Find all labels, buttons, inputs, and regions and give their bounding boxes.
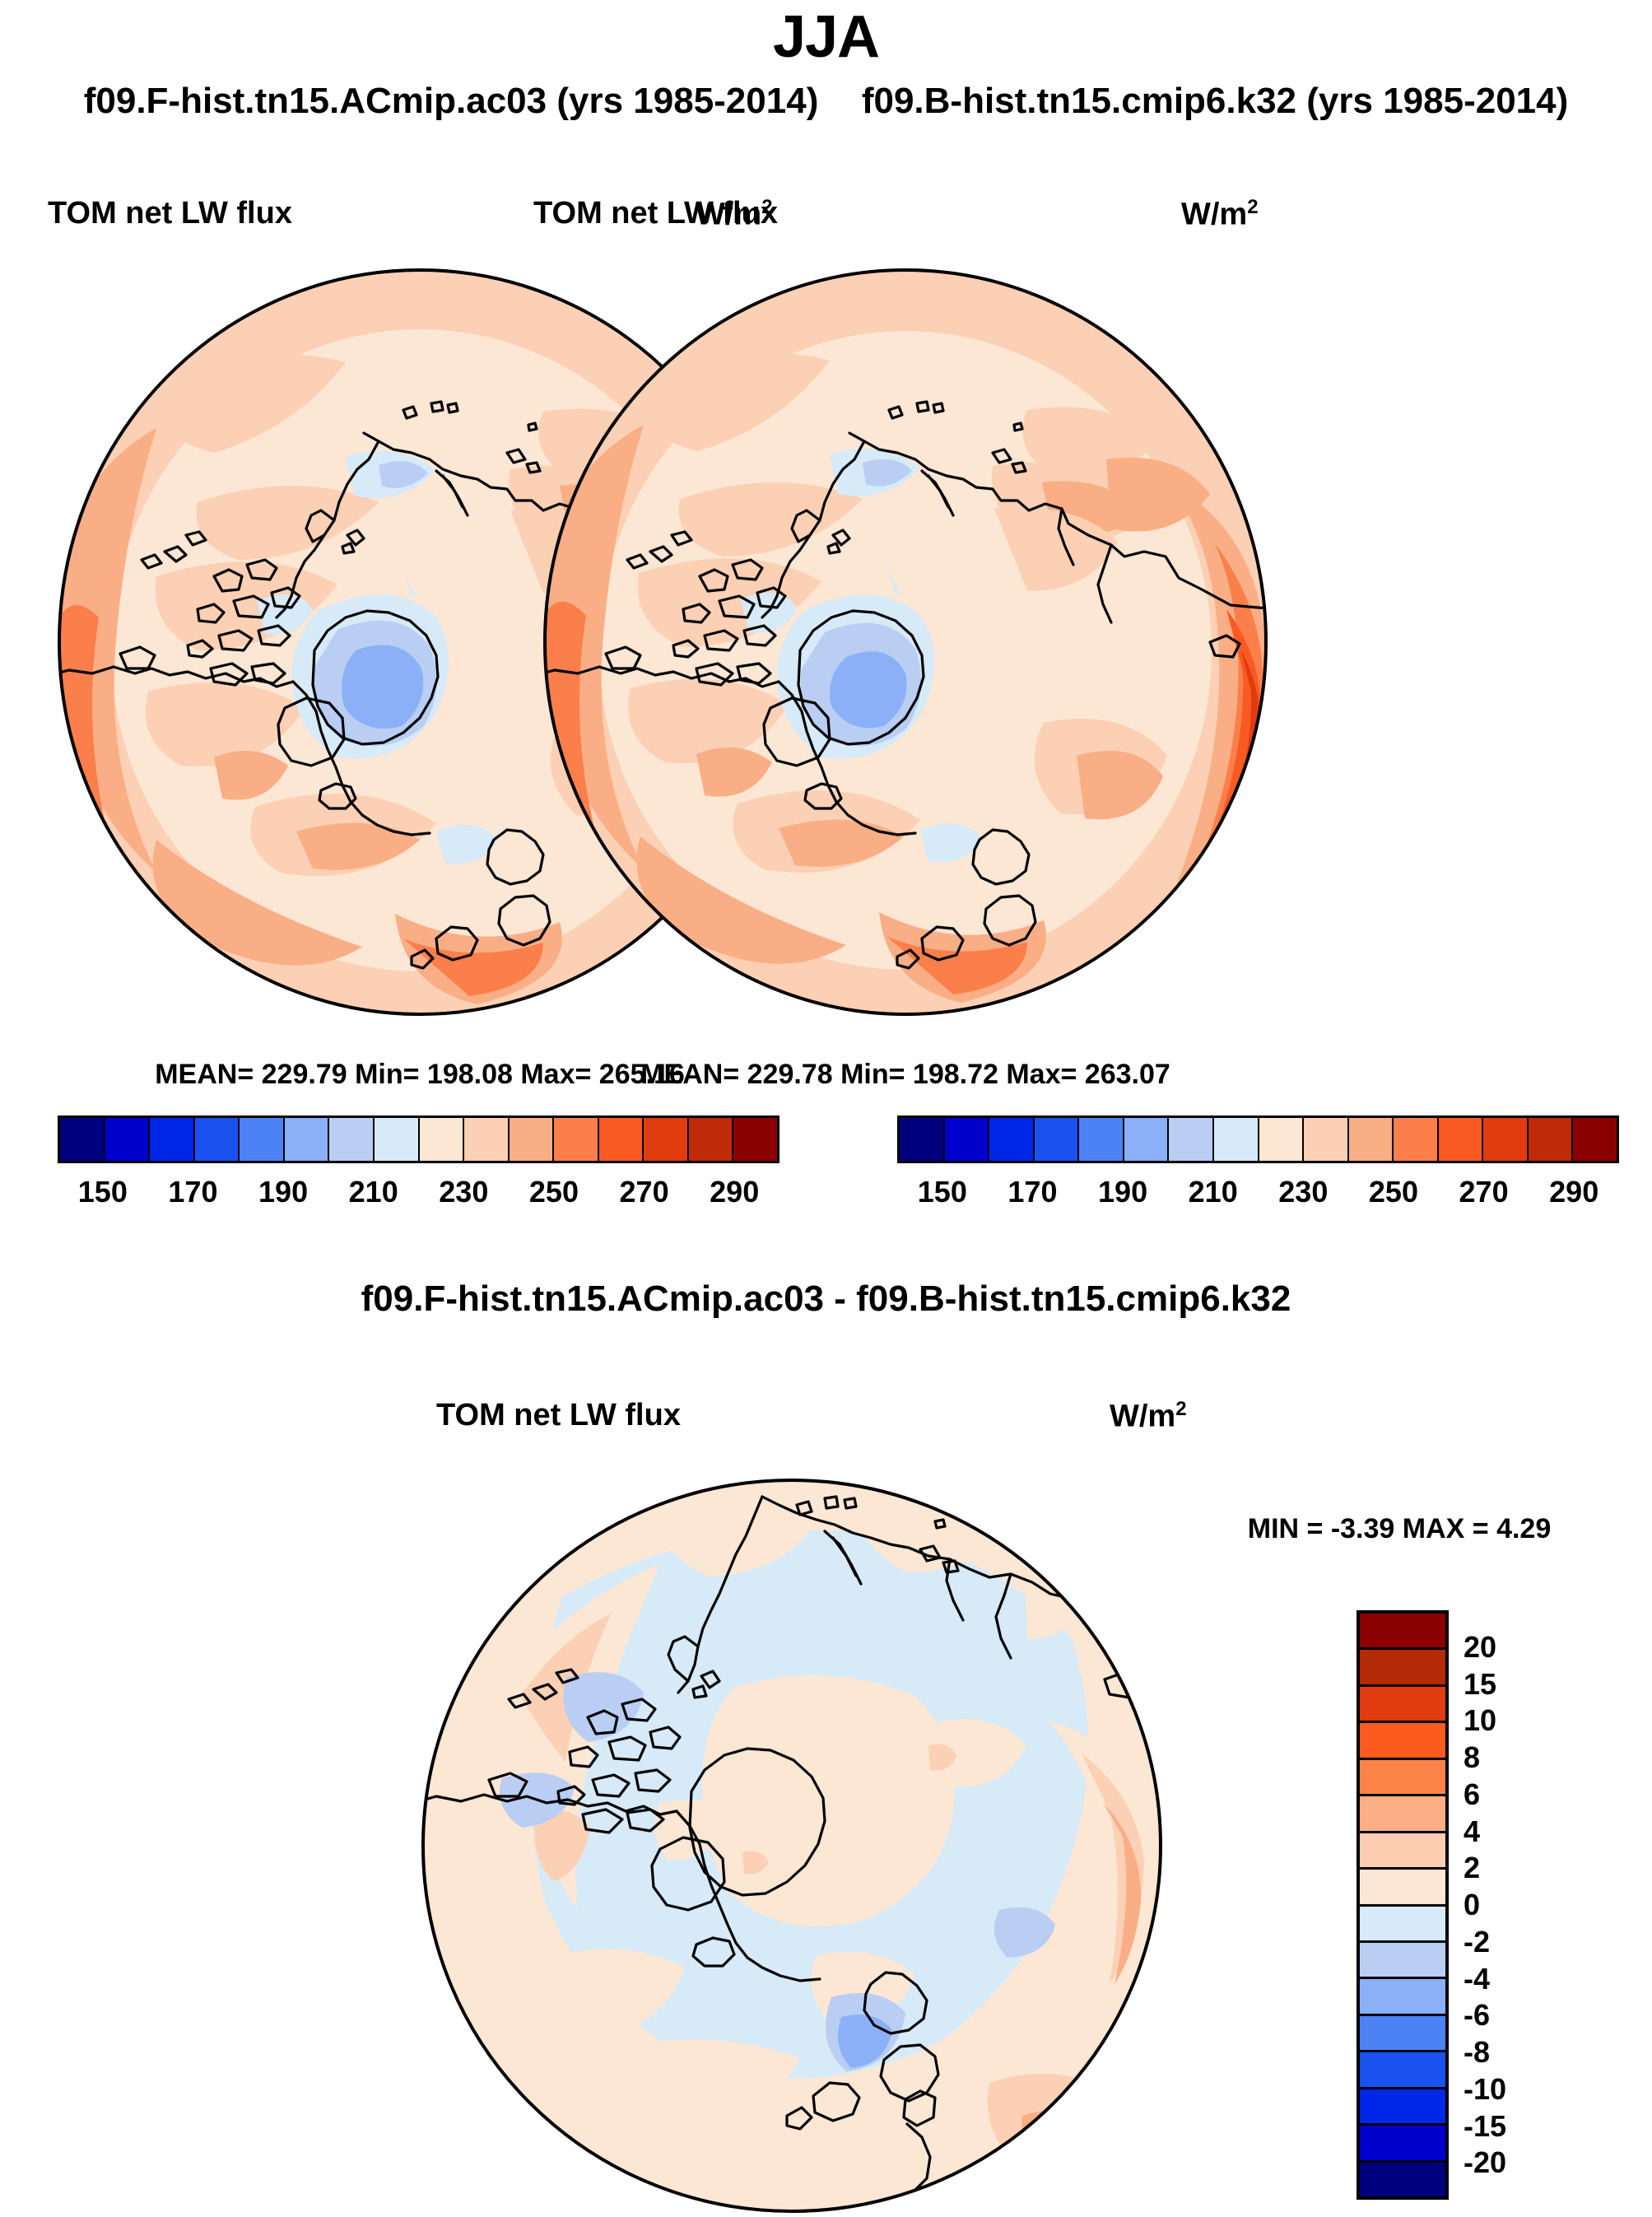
colorbar-tick-label: 230 xyxy=(439,1175,488,1209)
colorbar-swatch xyxy=(1360,1760,1445,1796)
colorbar-tick-label: 4 xyxy=(1464,1814,1480,1849)
difference-panel-title: f09.F-hist.tn15.ACmip.ac03 - f09.B-hist.… xyxy=(0,1279,1652,1320)
colorbar-swatch xyxy=(1259,1118,1305,1161)
colorbar-swatch xyxy=(1360,1833,1445,1870)
colorbar-swatch xyxy=(689,1118,734,1161)
colorbar-tick-label: -4 xyxy=(1464,1962,1490,1996)
panel-difference-variable-label: TOM net LW flux xyxy=(436,1398,681,1433)
colorbar-swatch xyxy=(1214,1118,1259,1161)
colorbar-swatch xyxy=(1439,1118,1484,1161)
colorbar-swatch xyxy=(510,1118,555,1161)
colorbar-swatch xyxy=(1360,1650,1445,1686)
colorbar-tick-label: 10 xyxy=(1464,1703,1496,1738)
colorbar-swatch xyxy=(60,1118,105,1161)
colorbar-tick-label: 150 xyxy=(78,1175,128,1209)
colorbar-swatch xyxy=(945,1118,990,1161)
colorbar-swatch xyxy=(1360,1979,1445,2015)
colorbar-swatch xyxy=(1079,1118,1124,1161)
colorbar-swatch xyxy=(1360,2163,1445,2196)
panel-difference-units-text: W/m xyxy=(1110,1400,1175,1434)
colorbar-tick-label: 290 xyxy=(1549,1175,1598,1209)
colorbar-swatch xyxy=(329,1118,375,1161)
colorbar-left: 150170190210230250270290 xyxy=(58,1115,779,1221)
colorbar-swatch xyxy=(1394,1118,1439,1161)
colorbar-swatch xyxy=(1360,1870,1445,1906)
colorbar-left-swatches xyxy=(58,1115,779,1163)
case-name-row: f09.F-hist.tn15.ACmip.ac03 (yrs 1985-201… xyxy=(0,81,1652,122)
colorbar-swatch xyxy=(1360,1943,1445,1979)
colorbar-tick-label: 8 xyxy=(1464,1740,1480,1775)
colorbar-swatch xyxy=(1124,1118,1170,1161)
panel-difference-units: W/m2 xyxy=(1110,1398,1187,1435)
figure-season-title: JJA xyxy=(0,3,1652,71)
colorbar-swatch xyxy=(1169,1118,1214,1161)
colorbar-swatch xyxy=(554,1118,599,1161)
colorbar-swatch xyxy=(1483,1118,1529,1161)
colorbar-swatch xyxy=(105,1118,151,1161)
colorbar-right-ticklabels: 150170190210230250270290 xyxy=(897,1175,1619,1221)
colorbar-swatch xyxy=(1573,1118,1617,1161)
colorbar-swatch xyxy=(1304,1118,1349,1161)
colorbar-difference-swatches xyxy=(1357,1610,1449,2200)
colorbar-swatch xyxy=(1360,1907,1445,1943)
colorbar-tick-label: 270 xyxy=(1459,1175,1509,1209)
colorbar-tick-label: -6 xyxy=(1464,1998,1490,2033)
panel-right-units: W/m2 xyxy=(1181,196,1259,233)
colorbar-swatch xyxy=(733,1118,777,1161)
map-difference-panel xyxy=(413,1474,1170,2215)
colorbar-swatch xyxy=(1360,2126,1445,2162)
colorbar-right-swatches xyxy=(897,1115,1619,1163)
case-name-left: f09.F-hist.tn15.ACmip.ac03 (yrs 1985-201… xyxy=(84,81,819,122)
map-difference-field xyxy=(413,1474,1170,2215)
colorbar-tick-label: 210 xyxy=(1189,1175,1238,1209)
colorbar-tick-label: -2 xyxy=(1464,1925,1490,1959)
colorbar-tick-label: 150 xyxy=(918,1175,967,1209)
case-name-right: f09.B-hist.tn15.cmip6.k32 (yrs 1985-2014… xyxy=(862,81,1568,122)
colorbar-tick-label: 250 xyxy=(1369,1175,1418,1209)
colorbar-tick-label: 6 xyxy=(1464,1777,1480,1812)
colorbar-swatch xyxy=(240,1118,285,1161)
colorbar-tick-label: -10 xyxy=(1464,2072,1506,2107)
colorbar-swatch xyxy=(464,1118,510,1161)
panel-right-variable-label: TOM net LW flux xyxy=(533,196,778,231)
colorbar-tick-label: 15 xyxy=(1464,1667,1496,1702)
panel-right-stats: MEAN= 229.78 Min= 198.72 Max= 263.07 xyxy=(535,1059,1276,1091)
colorbar-swatch xyxy=(375,1118,420,1161)
colorbar-swatch xyxy=(1360,2016,1445,2052)
colorbar-swatch xyxy=(989,1118,1035,1161)
colorbar-swatch xyxy=(285,1118,330,1161)
colorbar-tick-label: -8 xyxy=(1464,2035,1490,2070)
colorbar-swatch xyxy=(1529,1118,1574,1161)
colorbar-swatch xyxy=(195,1118,240,1161)
colorbar-swatch xyxy=(150,1118,195,1161)
map-right-panel xyxy=(535,263,1276,1021)
panel-right-units-text: W/m xyxy=(1181,198,1247,232)
map-right-field xyxy=(535,263,1276,1021)
colorbar-tick-label: 250 xyxy=(529,1175,579,1209)
colorbar-swatch xyxy=(1360,2052,1445,2089)
colorbar-swatch xyxy=(900,1118,945,1161)
colorbar-right: 150170190210230250270290 xyxy=(897,1115,1619,1221)
colorbar-tick-label: 290 xyxy=(710,1175,759,1209)
colorbar-tick-label: -15 xyxy=(1464,2109,1506,2144)
colorbar-tick-label: 210 xyxy=(349,1175,398,1209)
colorbar-swatch xyxy=(420,1118,465,1161)
map-difference-svg xyxy=(413,1474,1170,2215)
colorbar-swatch xyxy=(644,1118,689,1161)
colorbar-tick-label: 190 xyxy=(258,1175,308,1209)
colorbar-swatch xyxy=(599,1118,645,1161)
panel-difference-minmax: MIN = -3.39 MAX = 4.29 xyxy=(1177,1513,1622,1545)
panel-left-variable-label: TOM net LW flux xyxy=(48,196,292,231)
colorbar-difference-ticklabels: 20151086420-2-4-6-8-10-15-20 xyxy=(1464,1610,1587,2200)
colorbar-swatch xyxy=(1360,1687,1445,1723)
colorbar-tick-label: 190 xyxy=(1098,1175,1147,1209)
colorbar-tick-label: 0 xyxy=(1464,1888,1480,1922)
panel-difference-units-exponent: 2 xyxy=(1175,1398,1186,1420)
colorbar-swatch xyxy=(1360,1796,1445,1833)
map-right-svg xyxy=(535,263,1276,1021)
colorbar-swatch xyxy=(1349,1118,1394,1161)
colorbar-tick-label: 270 xyxy=(620,1175,669,1209)
colorbar-tick-label: 230 xyxy=(1278,1175,1328,1209)
colorbar-left-ticklabels: 150170190210230250270290 xyxy=(58,1175,779,1221)
colorbar-tick-label: 20 xyxy=(1464,1630,1496,1665)
colorbar-tick-label: 170 xyxy=(168,1175,217,1209)
colorbar-tick-label: 2 xyxy=(1464,1851,1480,1885)
panel-right-units-exponent: 2 xyxy=(1247,196,1258,218)
colorbar-swatch xyxy=(1035,1118,1080,1161)
colorbar-tick-label: 170 xyxy=(1007,1175,1057,1209)
colorbar-swatch xyxy=(1360,1723,1445,1759)
colorbar-tick-label: -20 xyxy=(1464,2145,1506,2180)
colorbar-swatch xyxy=(1360,2089,1445,2126)
colorbar-difference xyxy=(1357,1610,1449,2200)
colorbar-swatch xyxy=(1360,1614,1445,1650)
